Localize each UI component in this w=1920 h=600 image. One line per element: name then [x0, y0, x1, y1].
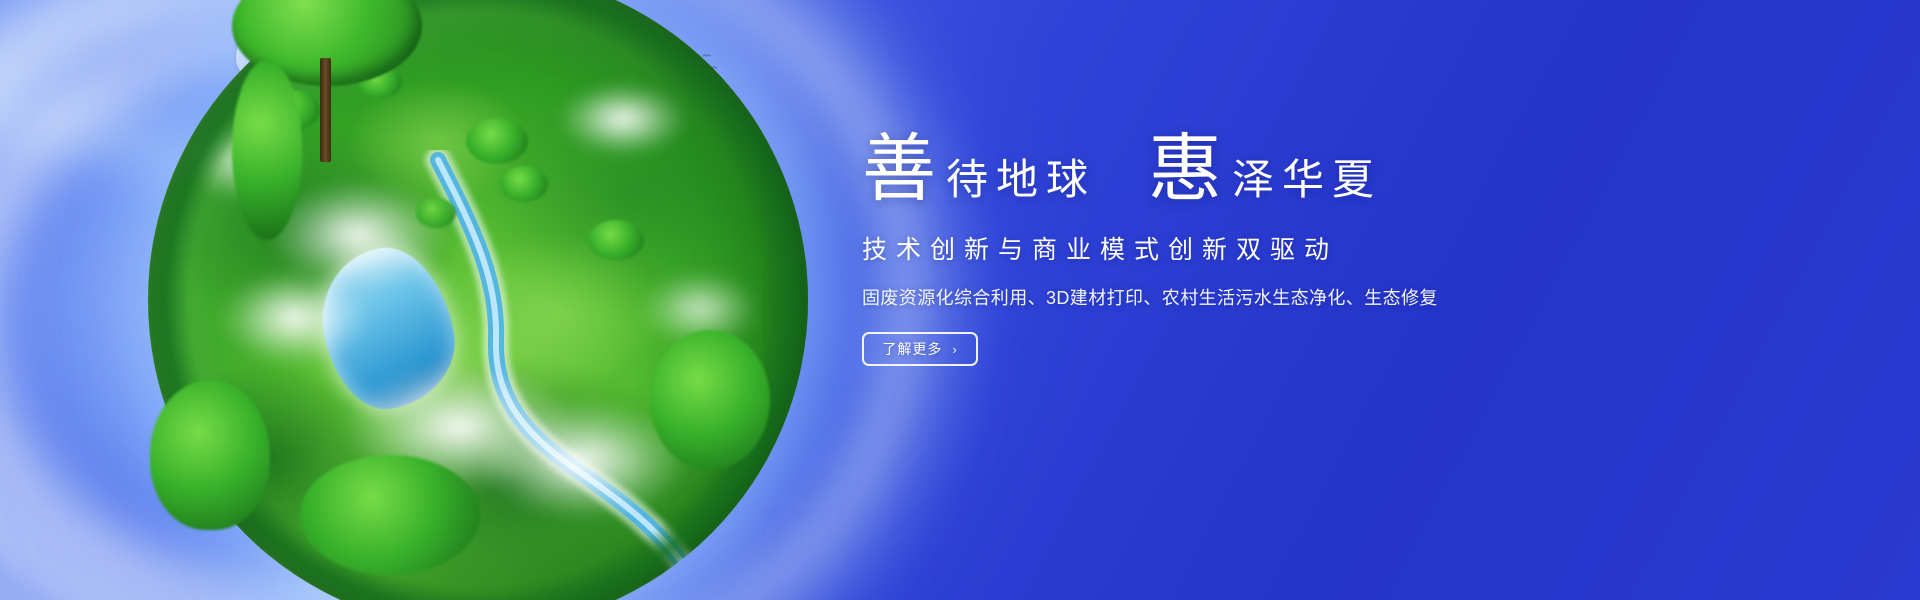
tree-canopy	[150, 380, 270, 530]
hero-copy: 善 待地球 惠 泽华夏 技术创新与商业模式创新双驱动 固废资源化综合利用、3D建…	[862, 132, 1762, 366]
headline-part2-primary: 惠	[1148, 132, 1222, 206]
chevron-right-icon: ›	[952, 343, 957, 356]
learn-more-label: 了解更多	[882, 339, 942, 359]
page-subtitle: 技术创新与商业模式创新双驱动	[862, 230, 1762, 266]
headline-part2-secondary: 泽华夏	[1232, 159, 1382, 201]
learn-more-button[interactable]: 了解更多 ›	[862, 332, 978, 366]
headline-part1-primary: 善	[862, 132, 936, 206]
page-title: 善 待地球 惠 泽华夏	[862, 132, 1762, 206]
tree-canopy	[232, 60, 302, 240]
tree-trunk	[320, 58, 331, 162]
headline-part1-secondary: 待地球	[946, 159, 1096, 201]
tree-canopy	[650, 330, 770, 470]
page-description: 固废资源化综合利用、3D建材打印、农村生活污水生态净化、生态修复	[862, 284, 1762, 310]
tree-canopy	[300, 455, 480, 575]
hero-banner: 善 待地球 惠 泽华夏 技术创新与商业模式创新双驱动 固废资源化综合利用、3D建…	[0, 0, 1920, 600]
